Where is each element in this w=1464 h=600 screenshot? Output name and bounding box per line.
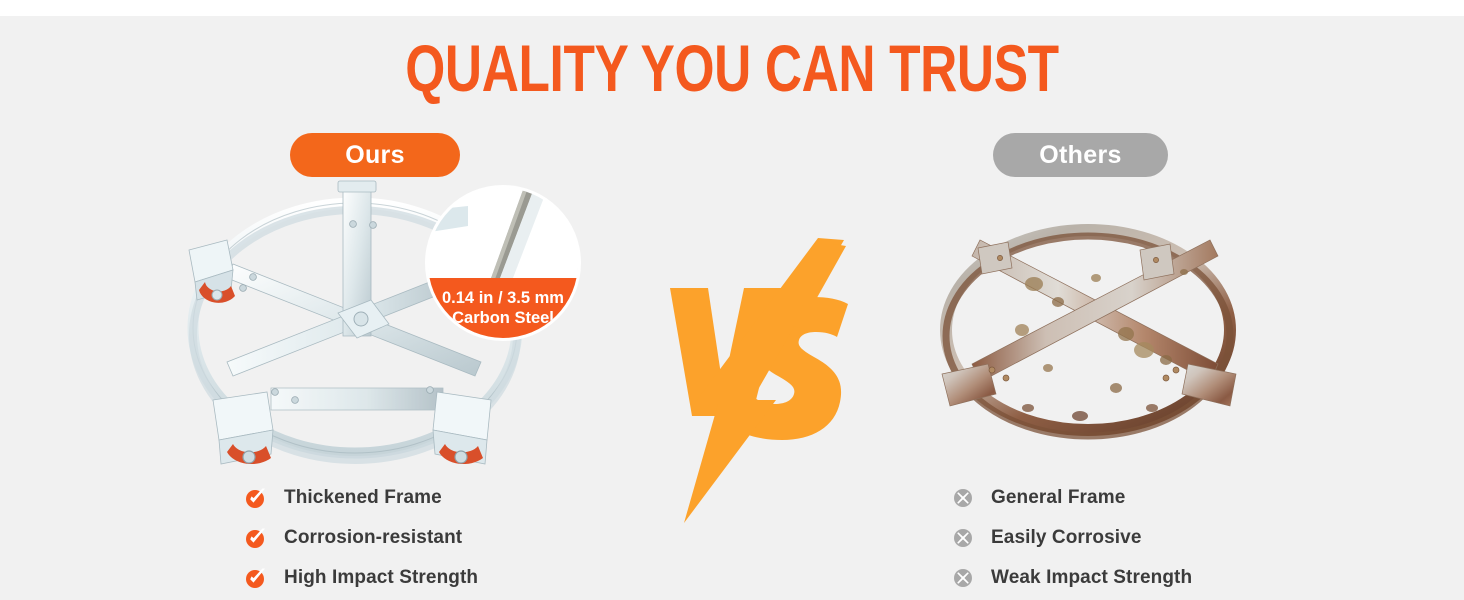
list-item: Weak Impact Strength	[952, 558, 1192, 598]
feature-label: High Impact Strength	[284, 567, 478, 589]
feature-list-ours: Thickened Frame Corrosion-resistant High…	[245, 478, 478, 598]
check-circle-icon	[245, 567, 267, 589]
badge-ours-label: Ours	[345, 141, 405, 170]
feature-label: General Frame	[991, 487, 1125, 509]
vs-lightning-icon	[648, 238, 888, 523]
list-item: Easily Corrosive	[952, 518, 1192, 558]
list-item: Thickened Frame	[245, 478, 478, 518]
callout-band: 0.14 in / 3.5 mm Carbon Steel	[428, 278, 578, 338]
product-image-others	[930, 212, 1250, 452]
top-white-strip	[0, 0, 1464, 16]
badge-others: Others	[993, 133, 1168, 177]
check-circle-icon	[245, 527, 267, 549]
page-title: QUALITY YOU CAN TRUST	[161, 34, 1303, 103]
x-circle-icon	[952, 567, 974, 589]
badge-ours: Ours	[290, 133, 460, 177]
feature-label: Weak Impact Strength	[991, 567, 1192, 589]
list-item: General Frame	[952, 478, 1192, 518]
check-circle-icon	[245, 487, 267, 509]
feature-label: Corrosion-resistant	[284, 527, 462, 549]
feature-label: Thickened Frame	[284, 487, 442, 509]
comparison-banner: QUALITY YOU CAN TRUST Ours Others	[0, 0, 1464, 600]
vs-divider	[648, 238, 888, 523]
badge-others-label: Others	[1039, 141, 1121, 170]
drum-dolly-others-illustration	[930, 212, 1250, 452]
feature-list-others: General Frame Easily Corrosive Weak Impa…	[952, 478, 1192, 598]
thickness-callout: 0.14 in / 3.5 mm Carbon Steel	[428, 188, 578, 338]
list-item: High Impact Strength	[245, 558, 478, 598]
callout-thickness-text: 0.14 in / 3.5 mm	[442, 289, 564, 307]
callout-material-text: Carbon Steel	[452, 309, 554, 327]
feature-label: Easily Corrosive	[991, 527, 1142, 549]
x-circle-icon	[952, 487, 974, 509]
list-item: Corrosion-resistant	[245, 518, 478, 558]
x-circle-icon	[952, 527, 974, 549]
